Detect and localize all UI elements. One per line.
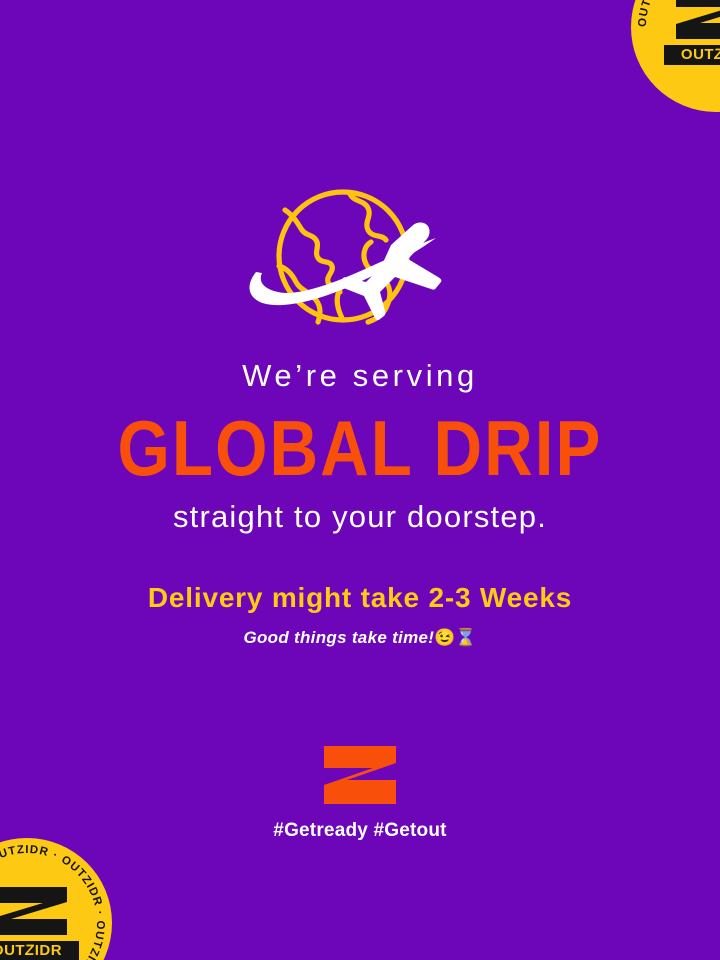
page-title: GLOBAL DRIP — [0, 409, 720, 487]
stamp-z-icon-bottom — [0, 885, 73, 937]
stamp-word-left-bottom: OUT — [0, 942, 25, 959]
brand-z-logo-icon — [321, 744, 399, 806]
stamp-core-top: OUTZIDR — [664, 0, 720, 65]
stamp-word-z-top: Z — [713, 47, 720, 62]
stamp-z-icon-top — [670, 0, 720, 41]
tagline-label: Good things take time! — [243, 628, 434, 647]
stamp-wordmark-bottom: OUTZIDR — [0, 941, 79, 960]
hashtags-text: #Getready #Getout — [0, 821, 720, 840]
stamp-wordmark-top: OUTZIDR — [664, 45, 720, 65]
footer-brand-block: #Getready #Getout — [0, 744, 720, 840]
stamp-core-bottom: OUTZIDR — [0, 885, 79, 960]
brand-stamp-bottom-left: OUTZIDR · OUTZIDR · OUTZIDR · OUTZIDR · … — [0, 838, 112, 960]
delivery-estimate-text: Delivery might take 2-3 Weeks — [0, 584, 720, 612]
tagline-text: Good things take time!😉⌛ — [0, 629, 720, 646]
stamp-word-z-bottom: Z — [24, 943, 35, 958]
tagline-emoji: 😉⌛ — [434, 628, 476, 647]
subline-text: straight to your doorstep. — [0, 501, 720, 532]
poster-copy-block: We’re serving GLOBAL DRIP straight to yo… — [0, 360, 720, 646]
poster-canvas: OUTZIDR · OUTZIDR · OUTZIDR · OUTZIDR · … — [0, 0, 720, 960]
eyebrow-text: We’re serving — [0, 360, 720, 391]
globe-airplane-icon — [240, 182, 480, 340]
stamp-word-right-bottom: IDR — [35, 942, 62, 959]
stamp-word-left-top: OUT — [681, 46, 714, 63]
brand-stamp-top-right: OUTZIDR · OUTZIDR · OUTZIDR · OUTZIDR · … — [631, 0, 720, 112]
